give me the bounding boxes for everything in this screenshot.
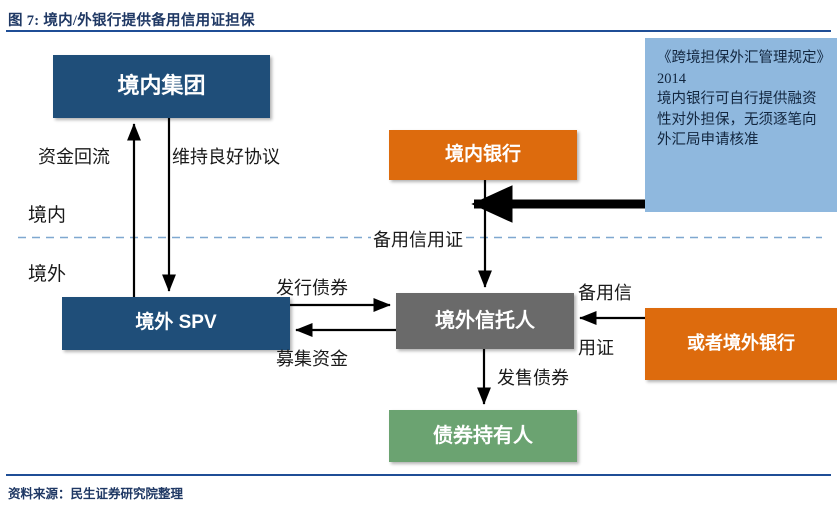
node-offshore-trustee[interactable]: 境外信托人 <box>396 293 574 349</box>
edge-label-sell-bond: 发售债券 <box>497 364 569 390</box>
footer-rule <box>6 474 831 476</box>
node-offshore-spv[interactable]: 境外 SPV <box>62 297 290 350</box>
edge-label-issue-bond: 发行债券 <box>276 274 348 300</box>
page-title: 图 7: 境内/外银行提供备用信用证担保 <box>8 9 255 30</box>
edge-label-funds-return: 资金回流 <box>38 143 110 169</box>
node-domestic-group[interactable]: 境内集团 <box>53 55 270 118</box>
node-domestic-bank[interactable]: 境内银行 <box>389 130 577 180</box>
region-label-offshore: 境外 <box>28 259 66 286</box>
node-offshore-bank[interactable]: 或者境外银行 <box>645 308 837 380</box>
edge-label-raise-funds: 募集资金 <box>276 345 348 371</box>
node-bondholder[interactable]: 债券持有人 <box>389 410 577 462</box>
source-note: 资料来源：民生证券研究院整理 <box>8 483 183 502</box>
edge-label-standby-lc-part1: 备用信 <box>578 279 632 305</box>
edge-label-standby-lc: 备用信用证 <box>371 226 465 252</box>
title-rule <box>6 30 831 32</box>
edge-label-standby-lc-part2: 用证 <box>578 334 614 360</box>
region-label-onshore: 境内 <box>28 200 66 227</box>
regulation-note-callout: 《跨境担保外汇管理规定》2014 境内银行可自行提供融资性对外担保，无须逐笔向外… <box>645 38 837 212</box>
edge-label-keep-agreement: 维持良好协议 <box>172 143 280 169</box>
